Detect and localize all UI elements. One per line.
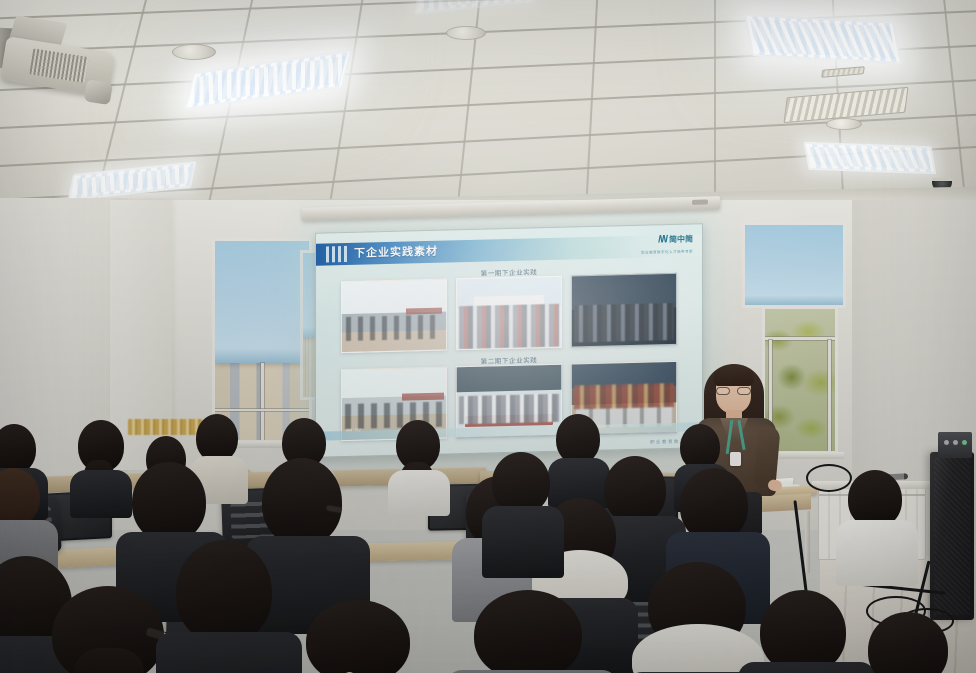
logo-name: 简中简 [669,234,693,246]
presenter-id-badge [730,452,741,466]
slide-logo: /\/\/简中简 职业教育数字化人才培养专家 [641,231,693,256]
photo-timestamp: 2023/08/14 10:26 [576,337,607,342]
ceiling-light-panel [67,161,196,201]
slide-photo [456,276,562,351]
desk-leg [805,511,810,573]
presenter-fringe [713,366,754,386]
ceiling-projector [0,13,121,105]
presenter-glasses [716,387,751,395]
slide-accent-bars [326,246,348,263]
photo-row-top: 2023/08/14 10:26 [316,272,702,353]
floor-cable [806,464,852,492]
window-left [212,238,312,443]
presentation-slide: 下企业实践素材 /\/\/简中简 职业教育数字化人才培养专家 第一期下企业实践 … [316,224,702,456]
ceiling-speaker-icon [826,118,862,130]
ceiling-light-panel [744,14,902,64]
ceiling-light-panel [414,0,538,15]
pa-speaker-tower [930,452,974,620]
classroom-photo: 下企业实践素材 /\/\/简中简 职业教育数字化人才培养专家 第一期下企业实践 … [0,0,976,673]
ceiling-speaker-icon [172,44,216,60]
window-blind-right-upper[interactable] [745,225,843,305]
ceiling-light-panel [804,142,937,175]
ceiling-light-panel [184,50,352,110]
slide-photo: 2023/08/14 10:26 [571,273,677,348]
ceiling [0,0,976,215]
screen-pull-knob[interactable] [692,199,708,204]
power-amplifier[interactable] [938,432,972,458]
hvac-vent [821,66,865,78]
wall-plaque [128,419,202,435]
slide-photo [341,279,447,354]
logo-mark-icon: /\/\/ [658,234,667,245]
window-right-upper [742,222,846,308]
slide-title: 下企业实践素材 [354,243,438,261]
projection-screen: 下企业实践素材 /\/\/简中简 职业教育数字化人才培养专家 第一期下企业实践 … [315,223,703,457]
ceiling-speaker-icon [446,26,486,40]
window-blind-left[interactable] [215,241,309,363]
